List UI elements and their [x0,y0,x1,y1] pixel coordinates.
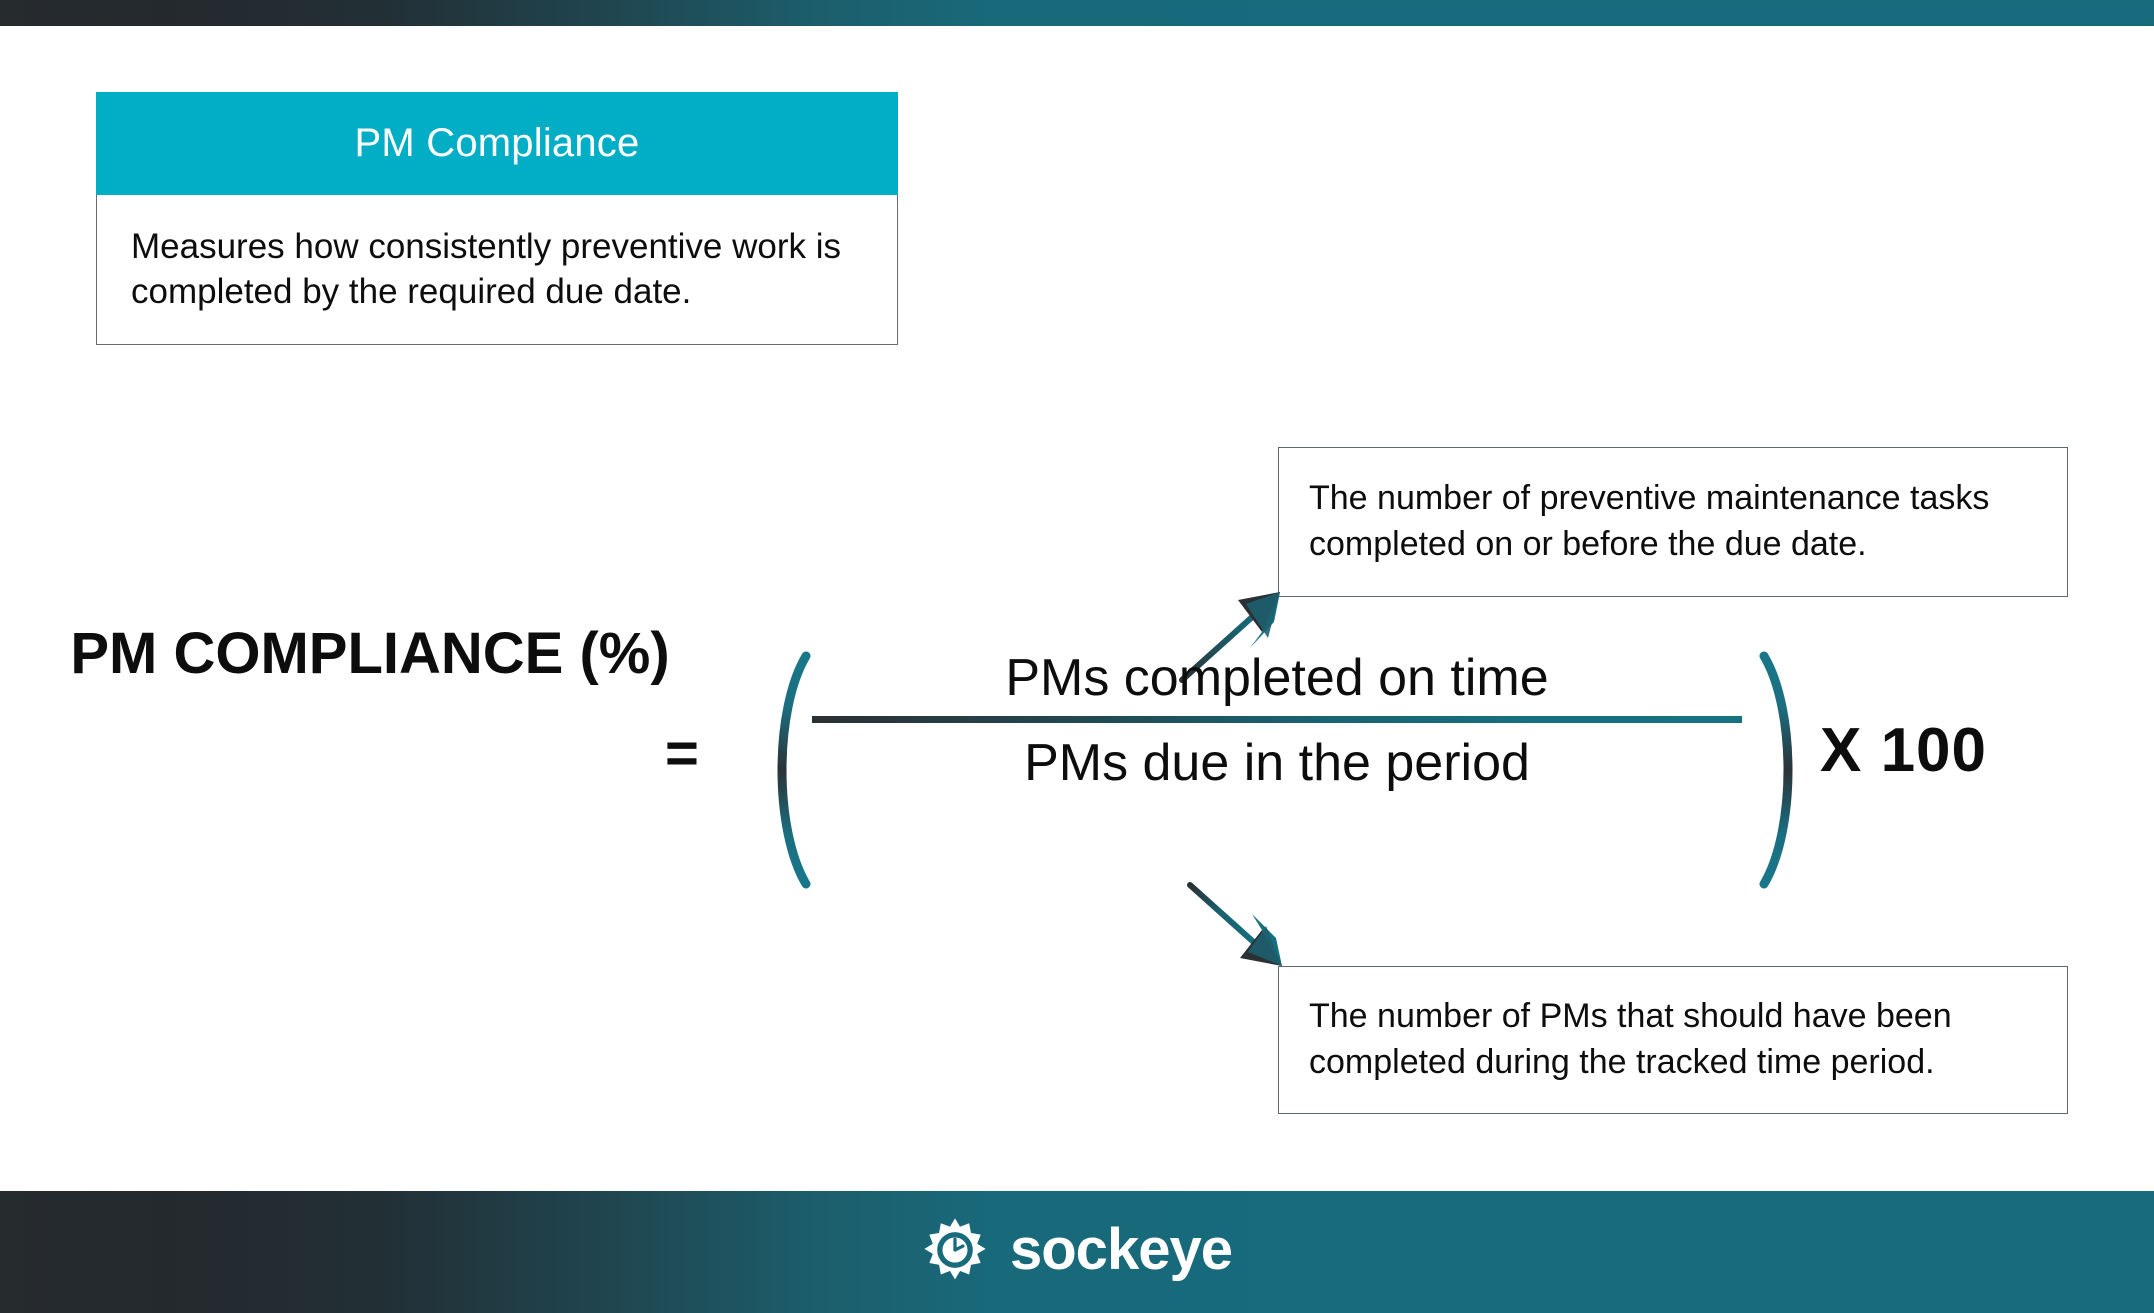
formula-multiplier: X 100 [1820,715,1987,786]
title-card-description: Measures how consistently preventive wor… [131,225,863,315]
title-card-body: Measures how consistently preventive wor… [96,195,898,345]
formula-equals-sign: = [665,720,699,787]
fraction-denominator: PMs due in the period [812,723,1742,793]
fraction: PMs completed on time PMs due in the per… [812,648,1742,794]
fraction-bar [812,716,1742,723]
callout-numerator: The number of preventive maintenance tas… [1278,447,2068,597]
title-card-header-label: PM Compliance [355,121,640,166]
formula-left-label: PM COMPLIANCE (%) [70,620,670,688]
top-accent-bar [0,0,2154,26]
callout-denominator-text: The number of PMs that should have been … [1279,994,2067,1086]
title-card: PM Compliance Measures how consistently … [96,92,898,345]
callout-denominator: The number of PMs that should have been … [1278,966,2068,1114]
fraction-numerator: PMs completed on time [812,648,1742,716]
title-card-header: PM Compliance [96,92,898,195]
callout-numerator-text: The number of preventive maintenance tas… [1279,476,2067,568]
footer-logo: sockeye [0,1216,2154,1283]
formula-block: PM COMPLIANCE (%) = PMs completed on tim… [0,620,2154,920]
gear-clock-icon [922,1217,988,1283]
paren-close-icon [1748,650,1818,890]
slide: PM Compliance Measures how consistently … [0,0,2154,1313]
logo-wordmark: sockeye [1010,1216,1232,1283]
